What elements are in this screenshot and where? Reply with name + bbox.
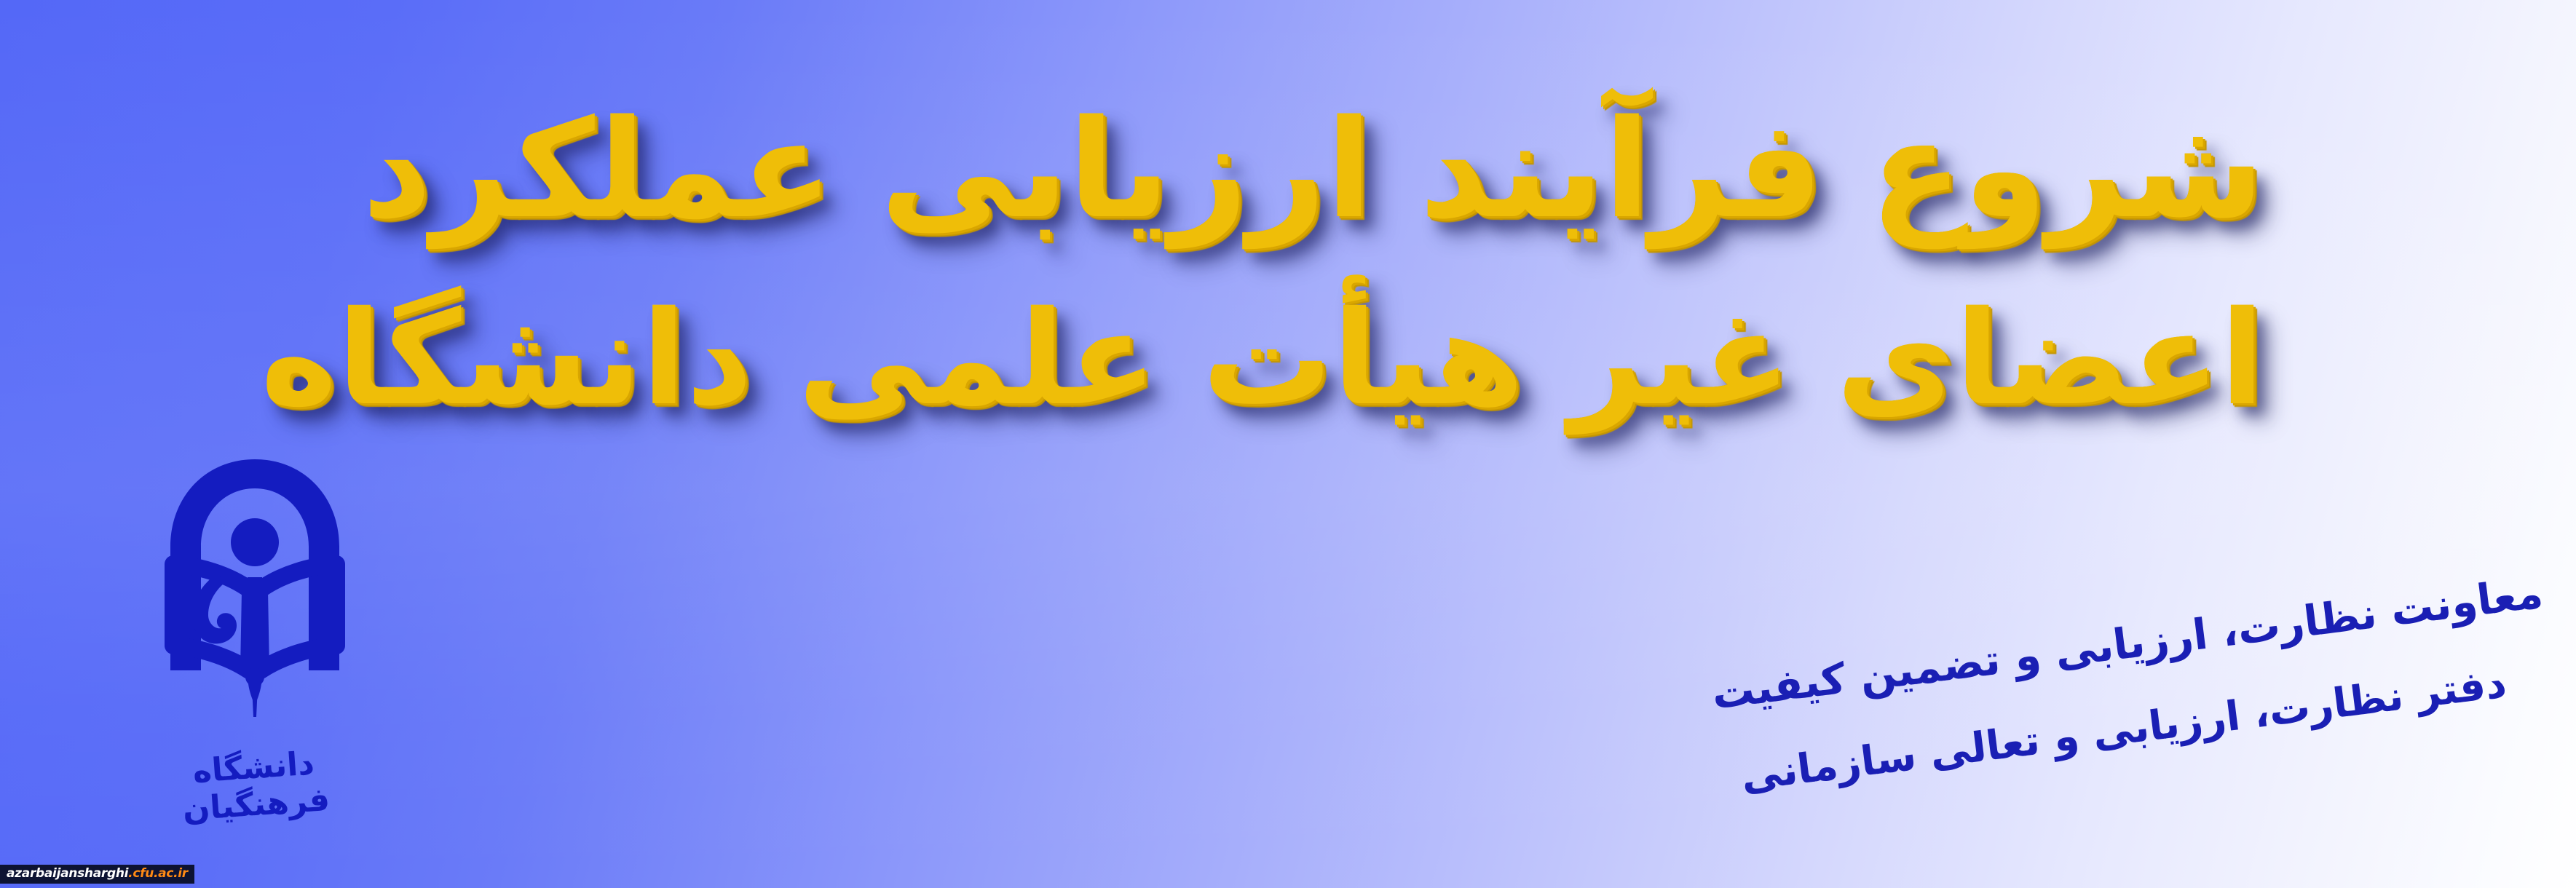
announcement-banner: شروع فرآیند ارزیابی عملکرد اعضای غیر هیأ…	[0, 0, 2576, 888]
site-watermark: azarbaijansharghi.cfu.ac.ir	[0, 865, 194, 884]
headline-block: شروع فرآیند ارزیابی عملکرد اعضای غیر هیأ…	[553, 102, 2264, 424]
headline-line-2: اعضای غیر هیأت علمی دانشگاه	[553, 294, 2264, 424]
university-logo: دانشگاه فرهنگیان	[124, 455, 386, 819]
farhangian-university-emblem-icon	[138, 455, 371, 746]
department-block: معاونت نظارت، ارزیابی و تضمین کیفیت دفتر…	[1775, 568, 2547, 707]
logo-caption: دانشگاه فرهنگیان	[122, 740, 388, 833]
headline-line-1: شروع فرآیند ارزیابی عملکرد	[553, 102, 2264, 237]
watermark-site-tld: .cfu.ac.ir	[128, 866, 188, 881]
watermark-site-name: azarbaijansharghi	[7, 866, 128, 881]
